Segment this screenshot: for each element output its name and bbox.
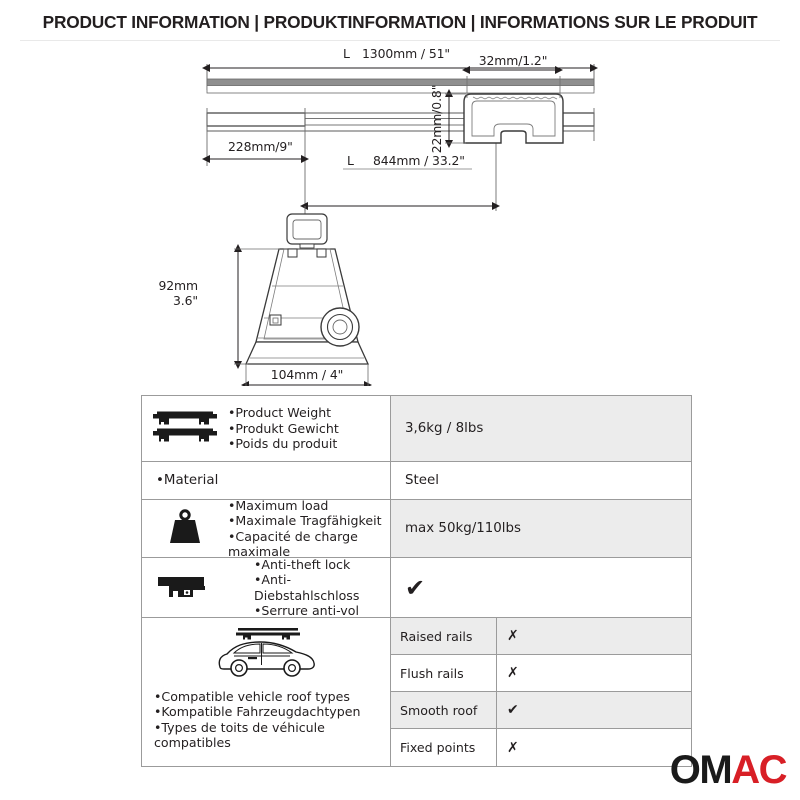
row-label-cell: •Material [142, 462, 391, 499]
option-name: Fixed points [391, 729, 497, 766]
crossbars-icon [142, 409, 228, 449]
label-line: •Anti-theft lock [254, 557, 387, 572]
label-profile-width: 32mm/1.2" [479, 53, 548, 68]
row-label-cell: •Maximum load •Maximale Tragfähigkeit •C… [142, 500, 391, 557]
compatibility-row: •Compatible vehicle roof types •Kompatib… [142, 618, 691, 766]
label-span-length: 844mm / 33.2" [373, 153, 465, 168]
check-mark-icon: ✔ [405, 576, 425, 600]
header-divider [20, 40, 780, 41]
option-value: ✗ [497, 729, 691, 766]
compatibility-option-row: Fixed points ✗ [391, 729, 691, 766]
label-foot-offset: 228mm/9" [228, 139, 293, 154]
label-line: •Material [156, 473, 387, 488]
foot-bracket-drawing [246, 214, 368, 364]
option-name: Flush rails [391, 655, 497, 691]
option-value: ✔ [497, 692, 691, 728]
compatibility-label-cell: •Compatible vehicle roof types •Kompatib… [142, 618, 391, 766]
label-line: •Produkt Gewicht [228, 421, 387, 436]
technical-drawing: L 1300mm / 51" 228mm/9" L 844mm / 33.2" … [0, 46, 800, 386]
row-labels: •Material [142, 473, 390, 488]
option-name: Raised rails [391, 618, 497, 654]
option-name: Smooth roof [391, 692, 497, 728]
lock-icon [142, 571, 228, 605]
row-value-cell: Steel [391, 462, 691, 499]
label-foot-height-mm: 92mm [158, 278, 198, 293]
table-row: •Material Steel [142, 462, 691, 500]
row-labels: •Anti-theft lock •Anti-Diebstahlschloss … [228, 557, 390, 619]
label-line: •Capacité de charge maximale [228, 529, 387, 560]
compatibility-option-row: Smooth roof ✔ [391, 692, 691, 729]
label-length-symbol: L [343, 46, 350, 61]
logo-text-accent: AC [731, 748, 786, 792]
weight-icon [142, 509, 228, 549]
logo-text-dark: OM [670, 748, 731, 792]
label-total-length: 1300mm / 51" [362, 46, 450, 61]
label-span-symbol: L [347, 153, 354, 168]
label-line: •Product Weight [228, 405, 387, 420]
label-line: •Anti-Diebstahlschloss [254, 572, 387, 603]
label-foot-width: 104mm / 4" [271, 367, 343, 382]
compatibility-options-table: Raised rails ✗ Flush rails ✗ Smooth roof… [391, 618, 691, 766]
label-foot-height-in: 3.6" [173, 293, 198, 308]
label-line: •Kompatible Fahrzeugdachtypen [154, 704, 360, 719]
label-line: •Poids du produit [228, 436, 387, 451]
row-value-cell: 3,6kg / 8lbs [391, 396, 691, 461]
row-label-cell: •Anti-theft lock •Anti-Diebstahlschloss … [142, 558, 391, 617]
option-value: ✗ [497, 655, 691, 691]
row-labels: •Product Weight •Produkt Gewicht •Poids … [228, 405, 390, 451]
label-line: •Compatible vehicle roof types [154, 689, 360, 704]
omac-logo: OMAC [670, 750, 786, 790]
specification-table: •Product Weight •Produkt Gewicht •Poids … [141, 395, 692, 767]
car-with-rack-icon [210, 625, 322, 685]
label-profile-height: 22mm/0.8" [429, 85, 444, 154]
row-label-cell: •Product Weight •Produkt Gewicht •Poids … [142, 396, 391, 461]
label-line: •Maximale Tragfähigkeit [228, 513, 387, 528]
row-value-cell: ✔ [391, 558, 691, 617]
table-row: •Product Weight •Produkt Gewicht •Poids … [142, 396, 691, 462]
label-line: •Serrure anti-vol [254, 603, 387, 618]
label-line: •Maximum load [228, 498, 387, 513]
table-row: •Anti-theft lock •Anti-Diebstahlschloss … [142, 558, 691, 618]
row-labels: •Maximum load •Maximale Tragfähigkeit •C… [228, 498, 390, 560]
dimension-span-length [305, 169, 493, 214]
compatibility-option-row: Flush rails ✗ [391, 655, 691, 692]
label-line: compatibles [154, 735, 360, 750]
table-row: •Maximum load •Maximale Tragfähigkeit •C… [142, 500, 691, 558]
page-title: PRODUCT INFORMATION | PRODUKTINFORMATION… [0, 12, 800, 33]
row-value-cell: max 50kg/110lbs [391, 500, 691, 557]
option-value: ✗ [497, 618, 691, 654]
compatibility-option-row: Raised rails ✗ [391, 618, 691, 655]
crossbar-side-view [207, 79, 594, 93]
compatibility-labels: •Compatible vehicle roof types •Kompatib… [142, 689, 360, 751]
label-line: •Types de toits de véhicule [154, 720, 360, 735]
